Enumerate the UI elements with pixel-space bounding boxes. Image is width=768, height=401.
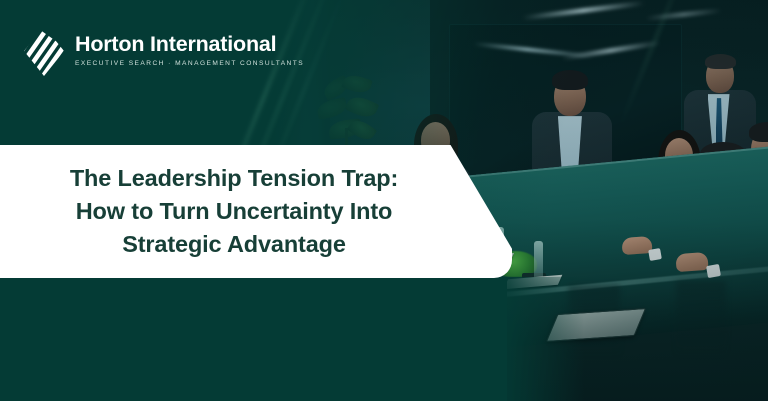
logo-tagline: EXECUTIVE SEARCH · MANAGEMENT CONSULTANT… — [75, 61, 304, 68]
headline-line-3: Strategic Advantage — [122, 230, 346, 259]
headline-line-2: How to Turn Uncertainty Into — [76, 197, 393, 226]
bottom-green-band — [0, 277, 507, 401]
horton-diamond-logo-mark — [24, 26, 64, 76]
logo-company-name: Horton International — [75, 34, 304, 56]
headline-panel: The Leadership Tension Trap: How to Turn… — [0, 145, 512, 278]
logo-text-block: Horton International EXECUTIVE SEARCH · … — [75, 34, 304, 67]
article-hero-banner: Horton International EXECUTIVE SEARCH · … — [0, 0, 768, 401]
bottom-green-band-fade — [461, 277, 584, 401]
brand-logo[interactable]: Horton International EXECUTIVE SEARCH · … — [24, 26, 304, 76]
page-title: The Leadership Tension Trap: How to Turn… — [0, 145, 462, 278]
headline-line-1: The Leadership Tension Trap: — [70, 164, 398, 193]
